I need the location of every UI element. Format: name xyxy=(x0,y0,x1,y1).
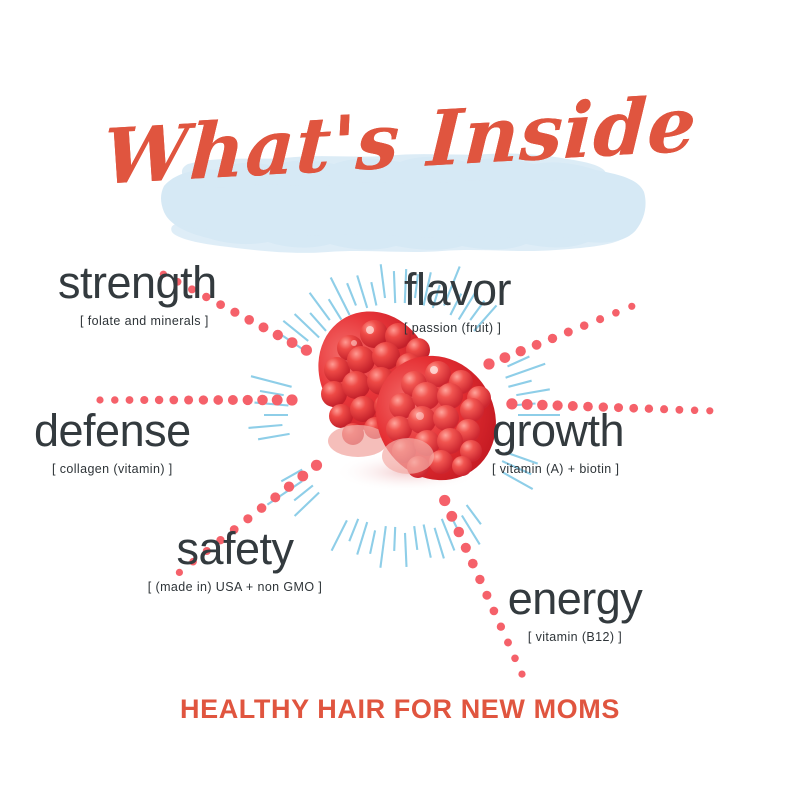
page-title: What's Inside xyxy=(0,60,800,220)
benefit-label-flavor: flavor xyxy=(404,265,704,315)
benefit-strength: strength [ folate and minerals ] xyxy=(58,258,217,330)
benefit-energy: energy [ vitamin (B12) ] xyxy=(430,574,720,646)
benefit-detail-flavor: [ passion (fruit) ] xyxy=(404,319,704,337)
benefit-defense: defense [ collagen (vitamin) ] xyxy=(34,406,191,478)
infographic-canvas: What's Inside xyxy=(0,0,800,800)
benefit-detail-energy: [ vitamin (B12) ] xyxy=(430,628,720,646)
benefit-safety: safety [ (made in) USA + non GMO ] xyxy=(90,524,380,596)
benefit-label-strength: strength xyxy=(58,258,217,308)
benefit-detail-growth: [ vitamin (A) + biotin ] xyxy=(492,460,772,478)
benefit-detail-defense: [ collagen (vitamin) ] xyxy=(34,460,191,478)
page-title-text: What's Inside xyxy=(101,79,699,202)
benefit-label-defense: defense xyxy=(34,406,191,456)
benefit-detail-strength: [ folate and minerals ] xyxy=(58,312,217,330)
benefit-label-safety: safety xyxy=(90,524,380,574)
footer-tagline-text: HEALTHY HAIR FOR NEW MOMS xyxy=(180,694,620,724)
footer-tagline: HEALTHY HAIR FOR NEW MOMS xyxy=(0,694,800,725)
benefit-detail-safety: [ (made in) USA + non GMO ] xyxy=(90,578,380,596)
benefit-label-energy: energy xyxy=(430,574,720,624)
benefit-flavor: flavor [ passion (fruit) ] xyxy=(404,265,704,337)
title-block: What's Inside xyxy=(0,60,800,220)
benefit-growth: growth [ vitamin (A) + biotin ] xyxy=(492,406,772,478)
benefit-label-growth: growth xyxy=(492,406,772,456)
